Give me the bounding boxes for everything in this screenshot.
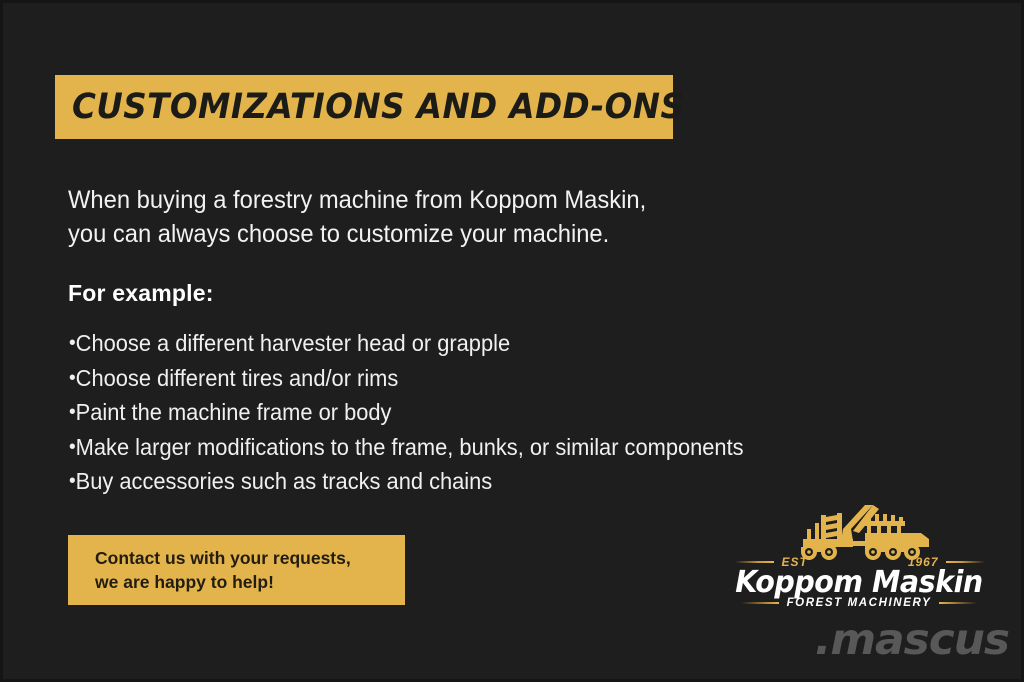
slide-canvas: CUSTOMIZATIONS AND ADD-ONS When buying a…: [0, 0, 1024, 682]
title-banner: CUSTOMIZATIONS AND ADD-ONS: [55, 75, 673, 139]
list-item-label: Make larger modifications to the frame, …: [76, 434, 744, 460]
list-item-label: Choose different tires and/or rims: [76, 365, 399, 391]
intro-line-1: When buying a forestry machine from Kopp…: [68, 183, 733, 217]
intro-line-2: you can always choose to customize your …: [68, 217, 733, 251]
logo-tagline-rule-left: [741, 602, 779, 604]
customization-bullet-list: •Choose a different harvester head or gr…: [69, 326, 829, 499]
list-item-label: Paint the machine frame or body: [76, 399, 392, 425]
contact-cta-line-1: Contact us with your requests,: [95, 546, 405, 570]
logo-rule-right: [946, 561, 985, 563]
page-title: CUSTOMIZATIONS AND ADD-ONS: [72, 87, 684, 127]
list-item-label: Buy accessories such as tracks and chain…: [76, 468, 493, 494]
logo-rule-left: [735, 561, 774, 563]
logo-tagline-rule-right: [939, 602, 977, 604]
mascus-watermark: .mascus: [754, 615, 1009, 665]
contact-cta-box[interactable]: Contact us with your requests, we are ha…: [68, 535, 405, 605]
list-item: •Choose a different harvester head or gr…: [69, 326, 791, 361]
list-item: •Buy accessories such as tracks and chai…: [69, 464, 791, 499]
logo-tagline-label: FOREST MACHINERY: [787, 597, 932, 609]
for-example-heading: For example:: [68, 280, 214, 307]
list-item-label: Choose a different harvester head or gra…: [76, 330, 510, 356]
koppom-maskin-logo: EST 1967 Koppom Maskin FOREST MACHINERY: [725, 503, 993, 615]
contact-cta-line-2: we are happy to help!: [95, 570, 405, 594]
list-item: •Choose different tires and/or rims: [69, 361, 791, 396]
logo-tagline-row: FOREST MACHINERY: [741, 597, 977, 609]
list-item: •Paint the machine frame or body: [69, 395, 791, 430]
list-item: •Make larger modifications to the frame,…: [69, 430, 791, 465]
logo-brand-name: Koppom Maskin: [732, 565, 987, 600]
intro-paragraph: When buying a forestry machine from Kopp…: [68, 183, 768, 251]
